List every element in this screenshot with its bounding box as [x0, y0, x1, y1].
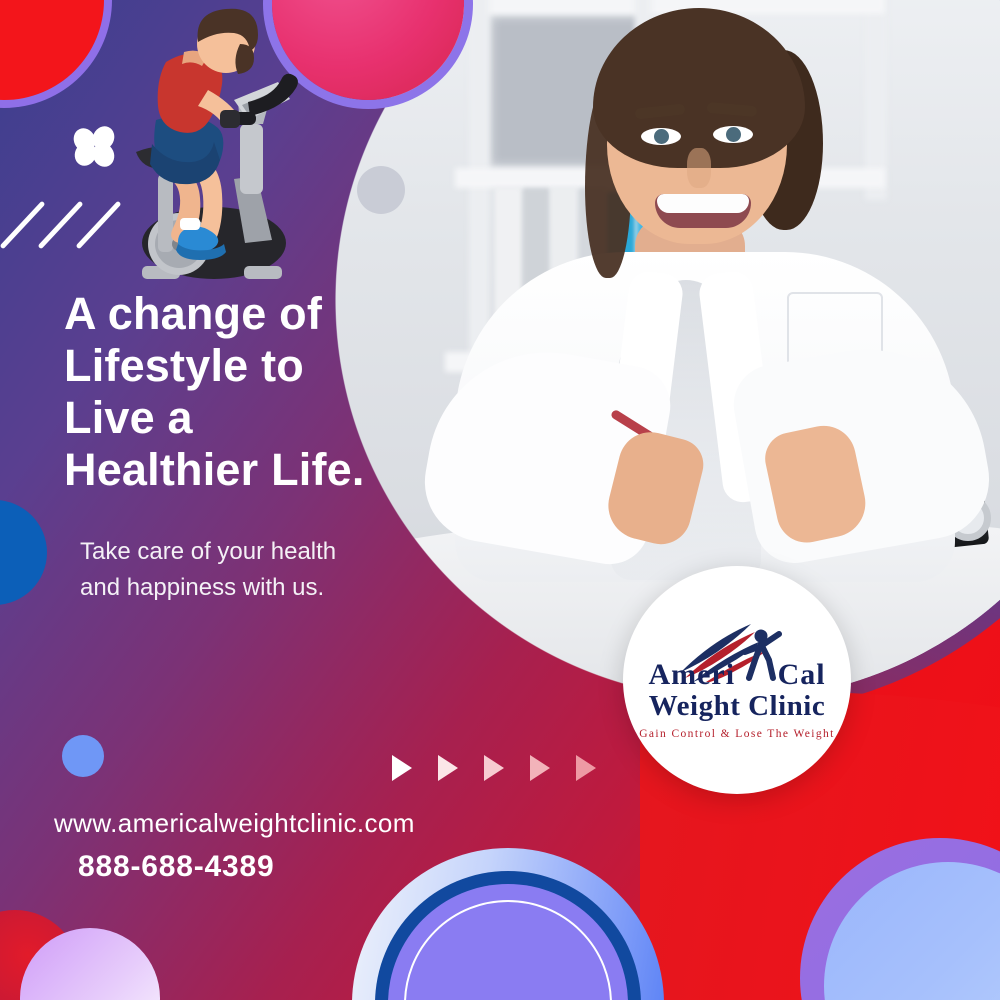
page-title: A change of Lifestyle to Live a Healthie… [64, 288, 464, 496]
logo-line-1: Ameri Cal [648, 660, 825, 690]
smiling-mouth [655, 194, 751, 228]
headline-line-4: Healthier Life. [64, 444, 464, 496]
play-arrow-icon-2 [438, 755, 458, 781]
decor-circle-lightblue-left [62, 735, 104, 777]
brand-logo-badge: Ameri Cal Weight Clinic Gain Control & L… [623, 566, 851, 794]
logo-tagline: Gain Control & Lose The Weight [639, 728, 835, 740]
teeth [657, 194, 749, 213]
iris-right [726, 127, 741, 142]
subtitle-line-1: Take care of your health [80, 534, 440, 570]
play-arrow-icon-1 [392, 755, 412, 781]
pinwheel-icon [74, 126, 114, 166]
logo-line-2: Weight Clinic [649, 690, 825, 723]
headline-line-3: Live a [64, 392, 464, 444]
decor-circle-grey [357, 166, 405, 214]
play-arrow-icon-3 [484, 755, 504, 781]
poster-canvas: A change of Lifestyle to Live a Healthie… [0, 0, 1000, 1000]
diagonal-stripes-icon [10, 198, 140, 254]
phone-number[interactable]: 888-688-4389 [78, 850, 274, 884]
website-url[interactable]: www.americalweightclinic.com [54, 808, 415, 839]
arrow-decoration-row [392, 755, 596, 781]
play-arrow-icon-5 [576, 755, 596, 781]
nose [687, 148, 711, 188]
iris-left [654, 129, 669, 144]
exercise-bike-illustration [122, 4, 327, 289]
logo-word-ameri: Ameri [648, 658, 735, 691]
subtitle: Take care of your health and happiness w… [80, 534, 440, 606]
headline-line-2: Lifestyle to [64, 340, 464, 392]
subtitle-line-2: and happiness with us. [80, 570, 440, 606]
headline-line-1: A change of [64, 288, 464, 340]
logo-word-cal: Cal [778, 658, 826, 691]
play-arrow-icon-4 [530, 755, 550, 781]
